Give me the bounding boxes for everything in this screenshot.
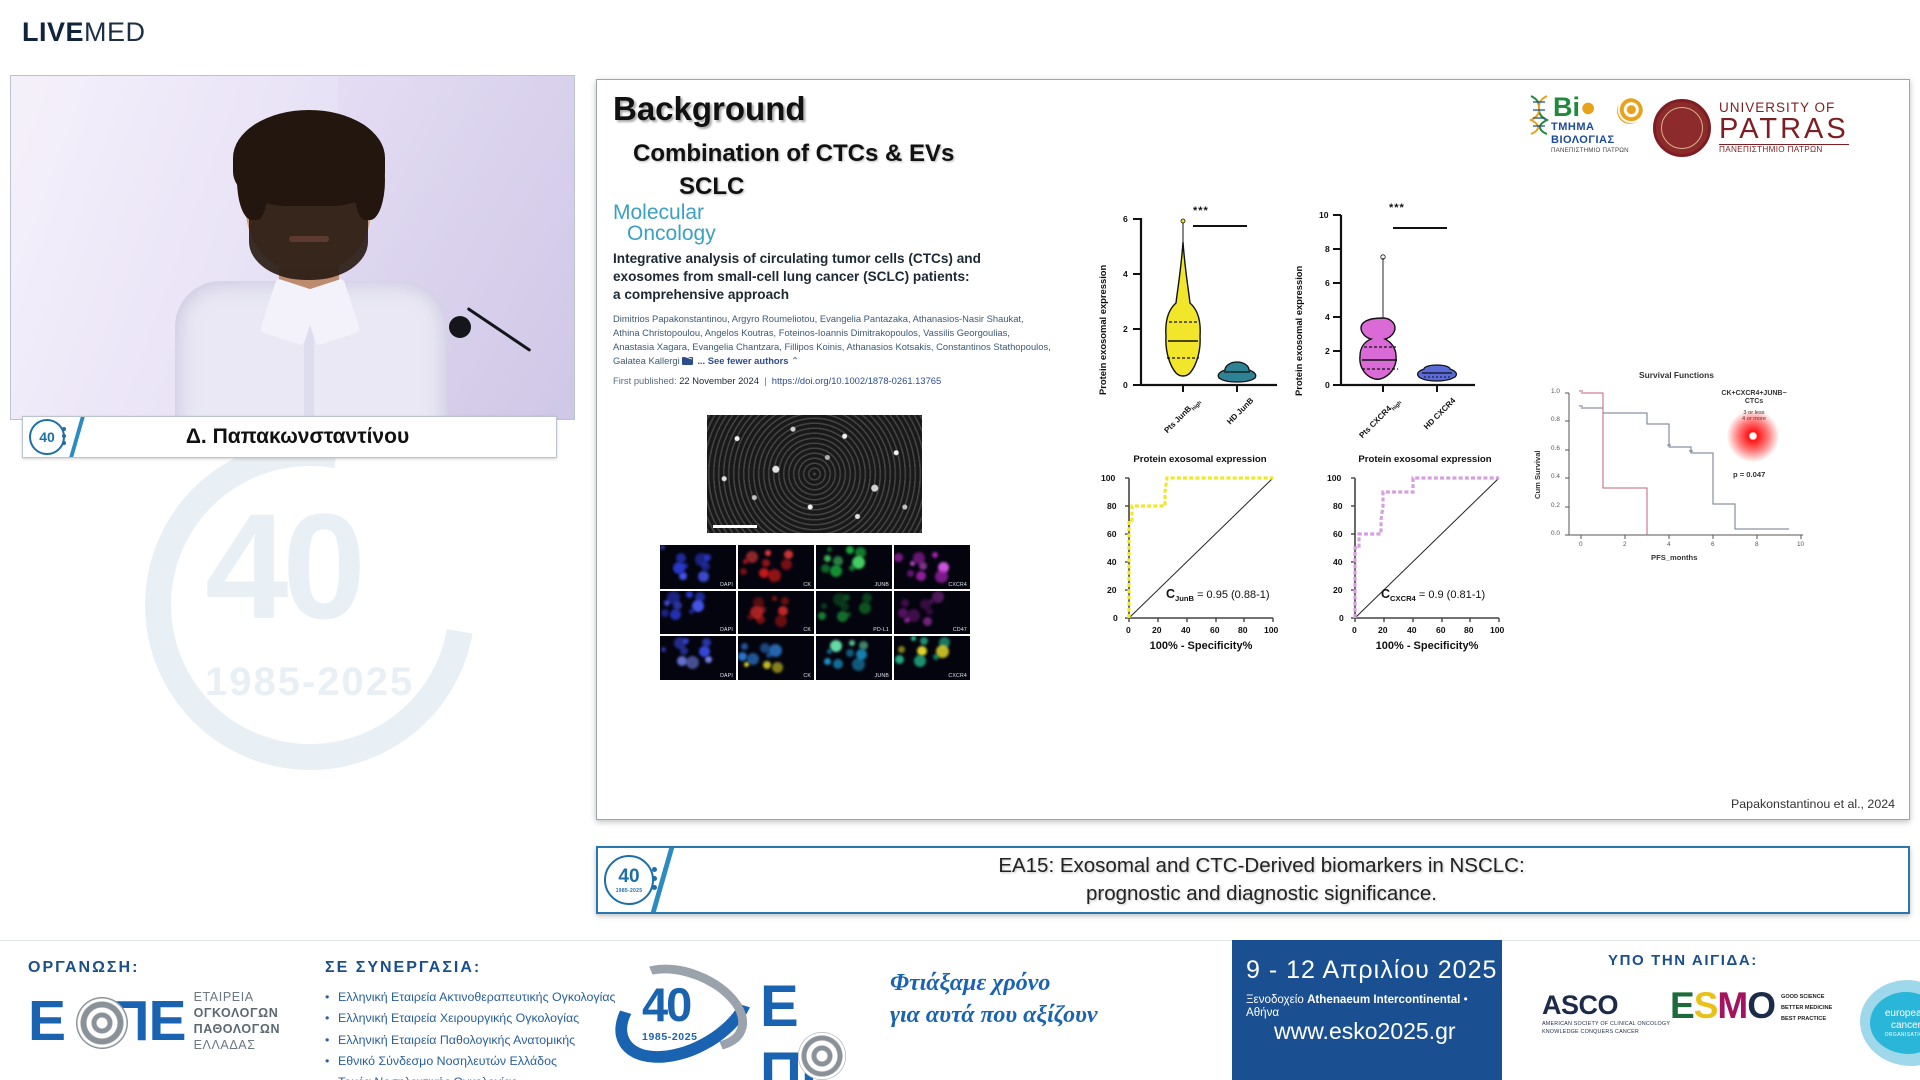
if-blob [920,637,928,645]
roc1-ytick-1: 20 [1107,585,1117,595]
if-blob [911,636,916,641]
if-blob [664,600,670,606]
session-bar-logo: 401985-2025 [598,848,660,912]
violin1-ytick-2: 4 [1123,269,1128,279]
if-panel: PD-L1 [816,591,892,635]
if-panel: DAPI [660,591,736,635]
if-panel-label: CK [803,582,811,588]
if-blob [933,654,939,660]
if-blob [768,569,781,582]
date-venue-box: 9 - 12 Απριλίου 2025 Ξενοδοχείο Athenaeu… [1232,940,1502,1080]
if-panel: CK [738,591,814,635]
roc1-xtick-4: 80 [1238,625,1248,635]
if-panel: CXCR4 [894,636,970,680]
bio-line2: ΒΙΟΛΟΓΙΑΣ [1551,134,1615,146]
if-blob [760,643,770,653]
violin1-ytick-1: 2 [1123,324,1128,334]
if-panel: JUNB [816,545,892,589]
collab-item-1: Ελληνική Εταιρεία Χειρουργικής Ογκολογία… [325,1008,616,1029]
corresponding-author: Galatea Kallergi [613,355,680,366]
paper-title: Integrative analysis of circulating tumo… [613,250,1083,304]
if-blob [895,655,904,664]
roc2-ytick-5: 100 [1327,473,1341,483]
roc1-auc-annotation: CJunB = 0.95 (0.88-1) [1166,587,1270,603]
if-blob [818,612,826,620]
if-blob [830,565,842,577]
if-blob [747,614,753,620]
roc1-xtick-3: 60 [1210,625,1220,635]
violin2-ytick-4: 8 [1325,244,1330,254]
patras-text: UNIVERSITY OF PATRAS ΠΑΝΕΠΙΣΤΗΜΙΟ ΠΑΤΡΩΝ [1719,101,1849,155]
biology-dept-logo: Bi● ΤΜΗΜΑ ΒΙΟΛΟΓΙΑΣ ΠΑΝΕΠΙΣΤΗΜΙΟ ΠΑΤΡΩΝ [1521,92,1641,164]
if-blob [916,571,926,581]
if-panel: CK [738,545,814,589]
university-patras-logo: UNIVERSITY OF PATRAS ΠΑΝΕΠΙΣΤΗΜΙΟ ΠΑΤΡΩΝ [1653,92,1903,164]
if-blob [660,545,665,550]
authors-line-3: Galatea Kallergi ... See fewer authors ⌃ [613,354,1083,368]
if-panel-label: JUNB [875,582,889,588]
tem-noise-texture [707,415,922,533]
paper-title-line-0: Integrative analysis of circulating tumo… [613,250,1083,268]
badge-40-session-icon: 401985-2025 [604,855,654,905]
if-blob [821,603,827,609]
logo40-years: 1985-2025 [642,1031,698,1043]
journal-line2: Oncology [613,223,1083,244]
asco-wordmark: ASCO [1542,990,1670,1021]
authors-line-0: Dimitrios Papakonstantinou, Argyro Roume… [613,312,1083,326]
if-blob [781,597,789,605]
roc2-xtick-5: 100 [1490,625,1504,635]
dna-icon [1527,94,1553,136]
if-panel: DAPI [660,545,736,589]
roc1-ytick-3: 60 [1107,529,1117,539]
roc-curve-cxcr4: Protein exosomal expression [1309,462,1529,672]
esmo-wordmark: ESMO [1670,988,1775,1023]
watermark-40: 40 1985-2025 [55,420,595,850]
venue-prefix: Ξενοδοχείο [1246,993,1304,1006]
violin2-ytick-5: 10 [1319,210,1329,220]
if-blob [852,658,865,671]
if-blob [661,609,669,617]
if-panel-label: CD47 [953,627,967,633]
paper-authors: Dimitrios Papakonstantinou, Argyro Roume… [613,312,1083,368]
roc1-ytick-2: 40 [1107,557,1117,567]
if-blob [859,641,868,650]
if-blob [837,611,848,622]
roc2-xtick-2: 40 [1407,625,1417,635]
roc2-ytick-0: 0 [1339,613,1344,623]
if-blob [824,658,831,665]
if-blob [674,637,686,649]
asco-tagline-1: AMERICAN SOCIETY OF CLINICAL ONCOLOGY [1542,1021,1670,1029]
if-blob [772,596,777,601]
if-panel-label: JUNB [875,673,889,679]
patras-seal-icon [1653,99,1711,157]
paper-title-line-2: a comprehensive approach [613,286,1083,304]
violin-plot-cxcr4: Protein exosomal expression *** [1293,210,1483,430]
journal-logo: Molecular Oncology [613,202,1083,245]
survival-ytick-3: 0.6 [1551,445,1560,452]
speaker-mouth [289,236,329,242]
esmo-tagline-2: BETTER MEDICINE [1781,1003,1832,1014]
if-blob [766,652,772,658]
tem-micrograph [707,415,922,533]
logo40-spiral-icon [798,1032,846,1080]
livemed-logo: LIVEMED [22,17,146,48]
survival-curve-plot: Survival Functions [1521,375,1821,575]
eco-line-1: european [1885,1008,1920,1020]
page-root: LIVEMED 40 1985-2025 40 [0,0,1920,1080]
roc2-xlabel: 100% - Specificity% [1337,640,1517,652]
roc2-xtick-3: 60 [1436,625,1446,635]
collaboration-block: ΣΕ ΣΥΝΕΡΓΑΣΙΑ: Ελληνική Εταιρεία Ακτινοθ… [325,959,616,1080]
survival-xlabel: PFS_months [1651,553,1697,562]
session-title-line-1: EA15: Exosomal and CTC-Derived biomarker… [665,852,1858,880]
speaker-bar-logo: 40 [23,417,71,457]
if-panel-label: CK [803,627,811,633]
if-blob [775,615,787,627]
collab-item-3: Εθνικό Σύνδεσμο Νοσηλευτών Ελλάδος [325,1051,616,1072]
roc2-ytick-4: 80 [1333,501,1343,511]
if-blob [738,652,747,661]
authors-line-1: Athina Christopoulou, Angelos Koutras, F… [613,326,1083,340]
brand-light: MED [84,17,146,47]
roc1-ytick-5: 100 [1101,473,1115,483]
if-blob [907,570,914,577]
violin1-svg [1097,210,1287,430]
aegis-block: ΥΠΟ ΤΗΝ ΑΙΓΙΔΑ: ASCO AMERICAN SOCIETY OF… [1530,948,1910,1078]
if-blob [932,552,938,558]
if-blob [670,609,681,620]
patras-line3: ΠΑΝΕΠΙΣΤΗΜΙΟ ΠΑΤΡΩΝ [1719,144,1849,154]
esmo-logo: ESMO GOOD SCIENCE BETTER MEDICINE BEST P… [1670,988,1832,1025]
if-blob [935,570,948,583]
if-blob [677,656,687,666]
if-blob [686,591,693,598]
conference-slogan: Φτιάξαμε χρόνο για αυτά που αξίζουν [890,968,1098,1031]
roc2-xtick-1: 20 [1378,625,1388,635]
session-title-bar: 401985-2025 EA15: Exosomal and CTC-Deriv… [596,846,1910,914]
slogan-line-1: Φτιάξαμε χρόνο [890,968,1098,1000]
if-panel-label: DAPI [720,673,733,679]
if-blob [920,599,931,610]
roc-curve-junb: Protein exosomal expression [1083,462,1303,672]
slide-subtitle-2: SCLC [679,173,744,201]
if-blob [695,553,708,566]
slide-subtitle-1: Combination of CTCs & EVs [633,140,954,168]
roc2-ytick-1: 20 [1333,585,1343,595]
violin2-ytick-2: 4 [1325,312,1330,322]
roc2-ytick-2: 40 [1333,557,1343,567]
violin2-ytick-0: 0 [1325,380,1330,390]
bio-line1: ΤΜΗΜΑ [1551,121,1594,133]
session-title: EA15: Exosomal and CTC-Derived biomarker… [665,852,1908,909]
ammonite-icon [1617,98,1643,124]
if-panel: CK [738,636,814,680]
if-blob [859,602,871,614]
violin1-ytick-0: 0 [1123,380,1128,390]
if-blob [846,546,854,554]
speaker-hair-left [237,140,267,220]
slide-title: Background [613,90,806,128]
patras-line2: PATRAS [1719,115,1849,145]
speaker-name-bar: 40 Δ. Παπακωνσταντίνου [22,416,557,458]
journal-line1: Molecular [613,201,704,224]
anniversary-logo [4,956,274,1066]
if-blob [673,562,685,574]
chevron-up-icon: ⌃ [791,355,799,366]
if-blob [765,550,771,556]
if-panel-label: CK [803,673,811,679]
roc2-auc-annotation: CCXCR4 = 0.9 (0.81-1) [1381,587,1485,603]
if-blob [772,662,783,673]
if-blob [705,656,712,663]
if-blob [827,547,832,552]
speaker-figure [161,116,461,420]
if-panel: JUNB [816,636,892,680]
if-panel: DAPI [660,636,736,680]
collab-item-0: Ελληνική Εταιρεία Ακτινοθεραπευτικής Ογκ… [325,987,616,1008]
authors-line-2: Anastasia Xagara, Evangelia Chantzara, F… [613,340,1083,354]
violin-plot-junb: Protein exosomal expression *** [1097,210,1287,430]
if-panel-label: CXCR4 [948,582,967,588]
bio-line3: ΠΑΝΕΠΙΣΤΗΜΙΟ ΠΑΤΡΩΝ [1551,147,1629,154]
if-blob [833,659,843,669]
speaker-video[interactable] [10,75,575,420]
eope-40-logo: 40 1985-2025 E ΠΕ [600,955,870,1065]
badge-40-icon: 40 [29,419,65,455]
esmo-tagline-1: GOOD SCIENCE [1781,992,1832,1003]
if-blob [821,564,830,573]
if-blob [746,551,758,563]
roc2-xtick-0: 0 [1352,625,1357,635]
if-blob [898,646,905,653]
venue-name: Athenaeum Intercontinental [1307,993,1460,1006]
if-blob [702,638,711,647]
if-blob [824,555,831,562]
if-blob [830,640,842,652]
if-blob [784,550,793,559]
roc1-xtick-5: 100 [1264,625,1278,635]
watermark-years: 1985-2025 [205,660,414,705]
if-panel-label: CXCR4 [948,673,967,679]
survival-ytick-4: 0.8 [1551,416,1560,423]
if-blob [763,661,771,669]
survival-xtick-5: 10 [1797,541,1804,548]
violin2-ytick-3: 6 [1325,278,1330,288]
if-blob [743,559,748,564]
collab-item-3-sub: Τομέα Νοσηλευτικής Ογκολογίας [325,1072,616,1080]
conference-venue: Ξενοδοχείο Athenaeum Intercontinental • … [1246,993,1502,1019]
eco-line-3: ORGANISATION [1885,1032,1920,1038]
collab-list: Ελληνική Εταιρεία Ακτινοθεραπευτικής Ογκ… [325,987,616,1080]
published-date: 22 November 2024 [679,375,759,386]
if-blob [827,649,832,654]
session-title-line-2: prognostic and diagnostic significance. [665,880,1858,908]
roc1-ytick-4: 80 [1107,501,1117,511]
violin2-svg [1293,210,1483,430]
survival-ytick-5: 1.0 [1551,388,1560,395]
roc1-xtick-2: 40 [1181,625,1191,635]
if-blob [901,599,909,607]
collab-label: ΣΕ ΣΥΝΕΡΓΑΣΙΑ: [325,959,616,977]
if-blob [741,643,748,650]
roc1-xtick-0: 0 [1126,625,1131,635]
if-blob [904,617,910,623]
survival-xtick-1: 2 [1623,541,1627,548]
if-blob [686,656,699,669]
asco-tagline-2: KNOWLEDGE CONQUERS CANCER [1542,1029,1670,1037]
slogan-line-2: για αυτά που αξίζουν [890,1000,1098,1032]
survival-xtick-4: 8 [1755,541,1759,548]
logo40-number: 40 [642,977,690,1032]
roc2-ytick-3: 60 [1333,529,1343,539]
aegis-label: ΥΠΟ ΤΗΝ ΑΙΓΙΔΑ: [1608,952,1758,969]
eco-line-2: cancer [1891,1020,1920,1032]
if-blob [698,571,709,582]
if-panel: CD47 [894,591,970,635]
doi-link[interactable]: https://doi.org/10.1002/1878-0261.13765 [772,375,941,386]
watermark-number: 40 [205,480,360,653]
survival-ytick-2: 0.4 [1551,473,1560,480]
paper-title-line-1: exosomes from small-cell lung cancer (SC… [613,268,1083,286]
survival-ytick-1: 0.2 [1551,502,1560,509]
conference-website[interactable]: www.esko2025.gr [1274,1018,1456,1045]
survival-legend-title-1: CK+CXCR4+JUNB− [1699,390,1809,398]
esmo-tagline-3: BEST PRACTICE [1781,1014,1832,1025]
if-blob [740,568,747,575]
paper-publication-info: First published: 22 November 2024 | http… [613,375,1083,386]
asco-tagline: AMERICAN SOCIETY OF CLINICAL ONCOLOGY KN… [1542,1021,1670,1037]
survival-legend-title-2: CTCs [1699,398,1809,406]
asco-logo: ASCO AMERICAN SOCIETY OF CLINICAL ONCOLO… [1542,990,1670,1037]
survival-pvalue: p = 0.047 [1733,470,1765,479]
violin1-ytick-3: 6 [1123,214,1128,224]
roc2-xtick-4: 80 [1464,625,1474,635]
immunofluorescence-grid: DAPICKJUNBCXCR4DAPICKPD-L1CD47DAPICKJUNB… [660,545,970,680]
if-blob [781,559,792,570]
figure-panels: Protein exosomal expression *** [1097,210,1897,770]
if-blob [744,662,749,667]
presentation-slide: Background Combination of CTCs & EVs SCL… [596,79,1910,820]
if-blob [910,561,915,566]
tem-scalebar [713,525,757,528]
if-blob [759,568,769,578]
survival-ytick-0: 0.0 [1551,530,1560,537]
collab-item-2: Ελληνική Εταιρεία Παθολογικής Ανατομικής [325,1030,616,1051]
if-blob [849,565,855,571]
brand-bold: LIVE [22,17,84,47]
if-blob [689,609,694,614]
if-blob [923,617,932,626]
if-blob [898,608,908,618]
survival-xtick-3: 6 [1711,541,1715,548]
microphone-icon [449,316,471,338]
published-label: First published: [613,375,677,386]
email-icon [682,357,693,365]
slide-citation: Papakonstantinou et al., 2024 [1731,797,1895,811]
if-blob [661,647,666,652]
laser-pointer-icon [1727,410,1779,462]
if-blob [762,559,770,567]
journal-article-block: Molecular Oncology Integrative analysis … [613,202,1083,386]
roc1-ytick-0: 0 [1113,613,1118,623]
logo40-eope-name: E ΠΕ [760,973,870,1080]
if-panel-label: DAPI [720,582,733,588]
violin2-ytick-1: 2 [1325,346,1330,356]
if-blob [849,640,855,646]
if-panel-label: PD-L1 [873,627,889,633]
bio-wordmark: Bi● [1553,92,1596,123]
esmo-tagline: GOOD SCIENCE BETTER MEDICINE BEST PRACTI… [1781,992,1832,1025]
roc1-xtick-1: 20 [1152,625,1162,635]
speaker-hair-right [355,140,385,220]
conference-dates: 9 - 12 Απριλίου 2025 [1246,956,1497,985]
see-fewer-authors-link[interactable]: ... See fewer authors [697,355,788,366]
survival-ylabel: Cum Survival [1533,433,1542,499]
speaker-name: Δ. Παπακωνσταντίνου [79,425,556,449]
if-panel-label: DAPI [720,627,733,633]
if-blob [914,655,926,667]
if-blob [846,649,854,657]
survival-xtick-2: 4 [1667,541,1671,548]
roc1-xlabel: 100% - Specificity% [1111,640,1291,652]
if-blob [894,553,903,562]
survival-xtick-0: 0 [1579,541,1583,548]
if-panel: CXCR4 [894,545,970,589]
european-cancer-org-logo: european cancer ORGANISATION [1860,980,1920,1066]
